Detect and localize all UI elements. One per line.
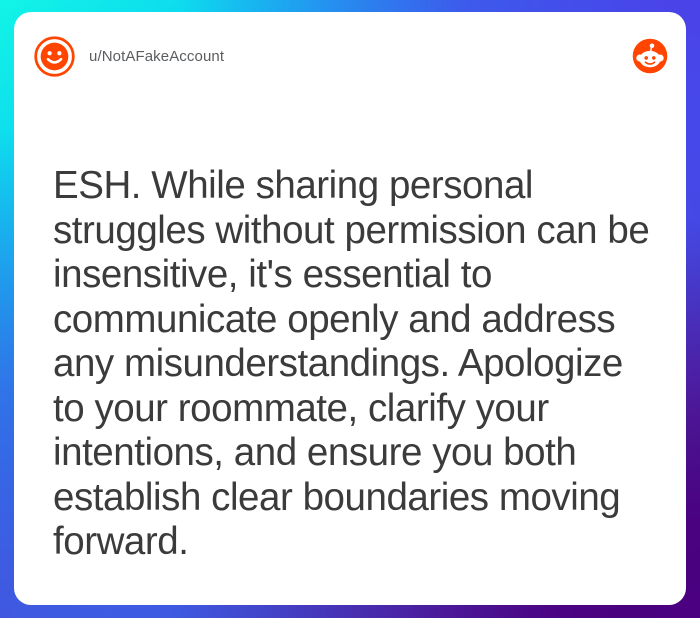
username-label: u/NotAFakeAccount	[89, 48, 224, 65]
reddit-snoo-logo-icon	[632, 38, 668, 74]
post-card: u/NotAFakeAccount ESH. While sharing	[14, 12, 686, 605]
post-body-text: ESH. While sharing personal struggles wi…	[53, 164, 656, 565]
smiley-face-avatar-icon	[34, 36, 75, 77]
post-header: u/NotAFakeAccount	[34, 34, 668, 78]
